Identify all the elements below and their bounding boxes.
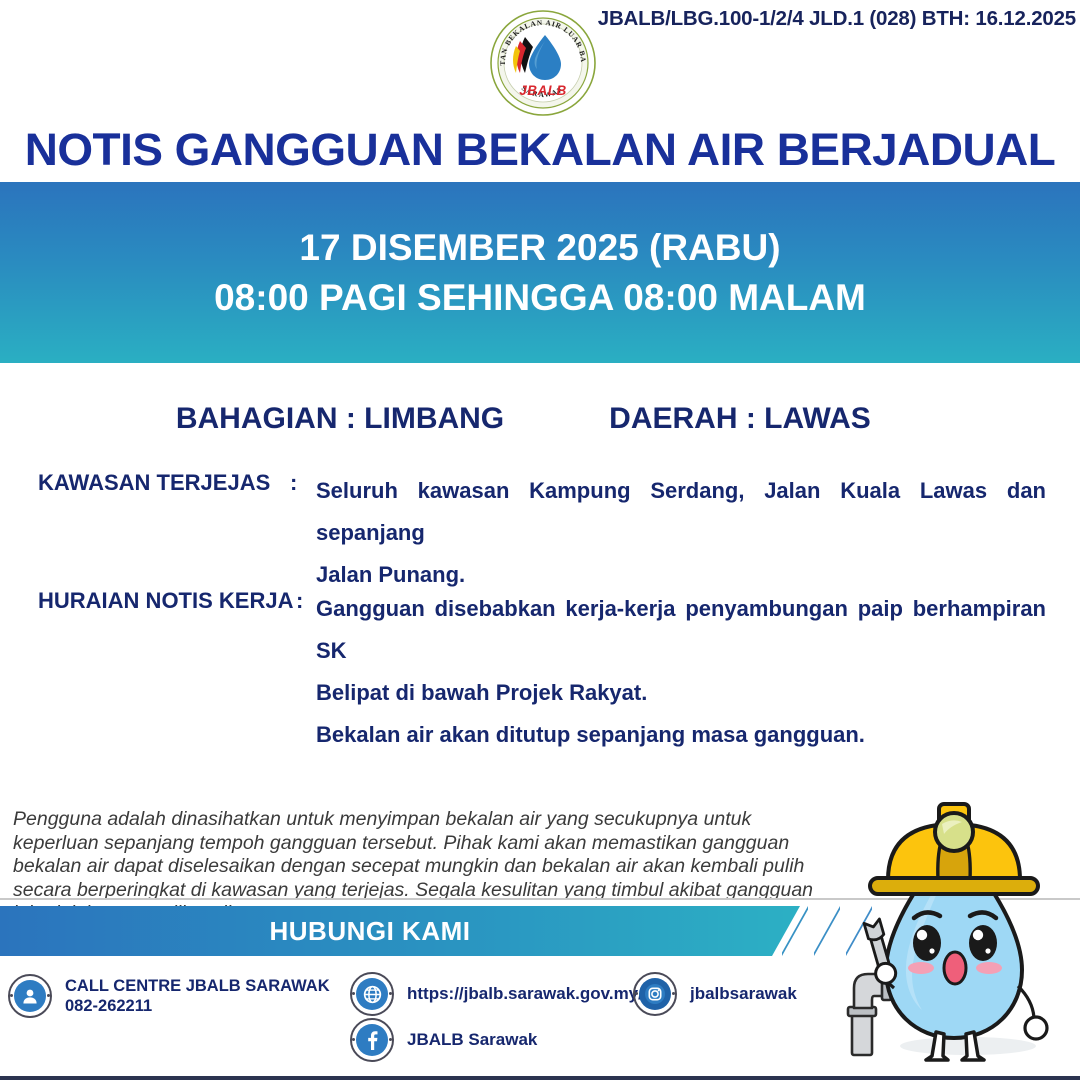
person-icon xyxy=(8,974,52,1018)
globe-icon xyxy=(350,972,394,1016)
call-centre-text: CALL CENTRE JBALB SARAWAK 082-262211 xyxy=(65,976,330,1016)
hard-hat-icon xyxy=(870,804,1038,894)
work-description-value: Gangguan disebabkan kerja-kerja penyambu… xyxy=(316,588,1046,756)
contact-bar-shape: HUBUNGI KAMI xyxy=(0,906,800,956)
affected-area-colon: : xyxy=(290,470,297,496)
work-description-label: HURAIAN NOTIS KERJA xyxy=(38,588,293,614)
banner-time: 08:00 PAGI SEHINGGA 08:00 MALAM xyxy=(214,273,866,323)
banner-date: 17 DISEMBER 2025 (RABU) xyxy=(299,223,780,273)
facebook-text: JBALB Sarawak xyxy=(407,1030,537,1050)
svg-text:JBALB: JBALB xyxy=(519,83,567,98)
contact-facebook[interactable]: JBALB Sarawak xyxy=(350,1018,537,1062)
contact-website[interactable]: https://jbalb.sarawak.gov.my/ xyxy=(350,972,643,1016)
schedule-banner: 17 DISEMBER 2025 (RABU) 08:00 PAGI SEHIN… xyxy=(0,182,1080,363)
contact-bar-heading: HUBUNGI KAMI xyxy=(270,916,471,947)
contact-instagram[interactable]: jbalbsarawak xyxy=(633,972,797,1016)
affected-area-label: KAWASAN TERJEJAS xyxy=(38,470,270,496)
instagram-text: jbalbsarawak xyxy=(690,984,797,1004)
website-text: https://jbalb.sarawak.gov.my/ xyxy=(407,984,643,1004)
work-description-line-2: Belipat di bawah Projek Rakyat. xyxy=(316,672,1046,714)
facebook-icon xyxy=(350,1018,394,1062)
affected-area-line-1: Seluruh kawasan Kampung Serdang, Jalan K… xyxy=(316,470,1046,554)
work-description-line-1: Gangguan disebabkan kerja-kerja penyambu… xyxy=(316,588,1046,672)
instagram-icon xyxy=(633,972,677,1016)
page-title: NOTIS GANGGUAN BEKALAN AIR BERJADUAL xyxy=(0,124,1080,176)
poster-header: JBALB/LBG.100-1/2/4 JLD.1 (028) BTH: 16.… xyxy=(0,0,1080,120)
daerah-label: DAERAH : LAWAS xyxy=(540,402,940,436)
contact-call-centre[interactable]: CALL CENTRE JBALB SARAWAK 082-262211 xyxy=(8,974,330,1018)
work-description-line-3: Bekalan air akan ditutup sepanjang masa … xyxy=(316,714,1046,756)
notice-poster: JBALB/LBG.100-1/2/4 JLD.1 (028) BTH: 16.… xyxy=(0,0,1080,1080)
work-description-colon: : xyxy=(296,588,303,614)
call-centre-line-1: CALL CENTRE JBALB SARAWAK xyxy=(65,977,330,995)
water-drop-mascot xyxy=(828,788,1080,1076)
reference-number: JBALB/LBG.100-1/2/4 JLD.1 (028) BTH: 16.… xyxy=(598,7,1076,31)
call-centre-line-2: 082-262211 xyxy=(65,996,330,1016)
bahagian-label: BAHAGIAN : LIMBANG xyxy=(140,402,540,436)
division-row: BAHAGIAN : LIMBANG DAERAH : LAWAS xyxy=(0,402,1080,436)
jbalb-logo: JABATAN BEKALAN AIR LUAR BANDAR SARAWAK … xyxy=(489,9,597,117)
affected-area-value: Seluruh kawasan Kampung Serdang, Jalan K… xyxy=(316,470,1046,596)
